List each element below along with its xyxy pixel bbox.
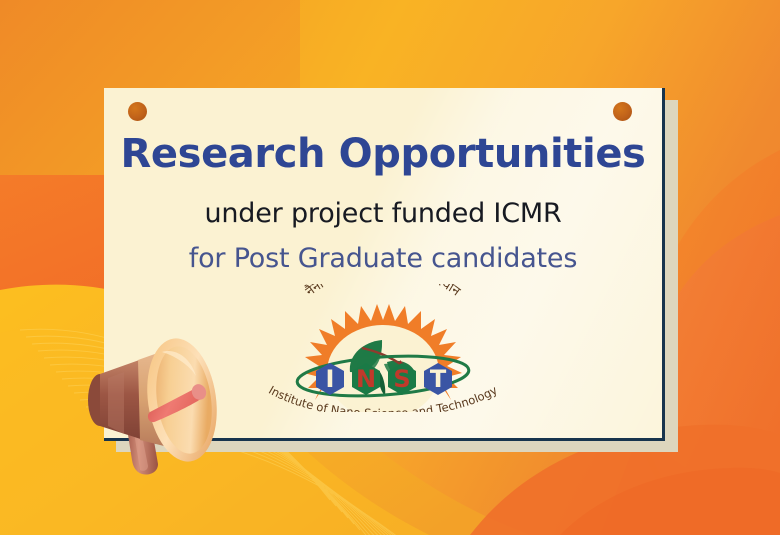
svg-text:S: S [393,365,410,393]
svg-text:T: T [430,365,447,393]
svg-text:N: N [356,365,376,393]
subtitle-line-1: under project funded ICMR [104,200,662,227]
page-title: Research Opportunities [104,134,662,174]
poster: Research Opportunities under project fun… [0,0,780,535]
logo-hex-n: N [352,363,380,395]
megaphone-illustration [78,322,228,487]
inst-logo: नैनो विज्ञान एवं प्रौद्योगिकी संस्थान [258,284,508,412]
card-text-block: Research Opportunities under project fun… [104,88,662,272]
logo-devanagari-text: नैनो विज्ञान एवं प्रौद्योगिकी संस्थान [302,284,463,300]
subtitle-line-2: for Post Graduate candidates [104,245,662,272]
svg-text:I: I [326,365,335,393]
